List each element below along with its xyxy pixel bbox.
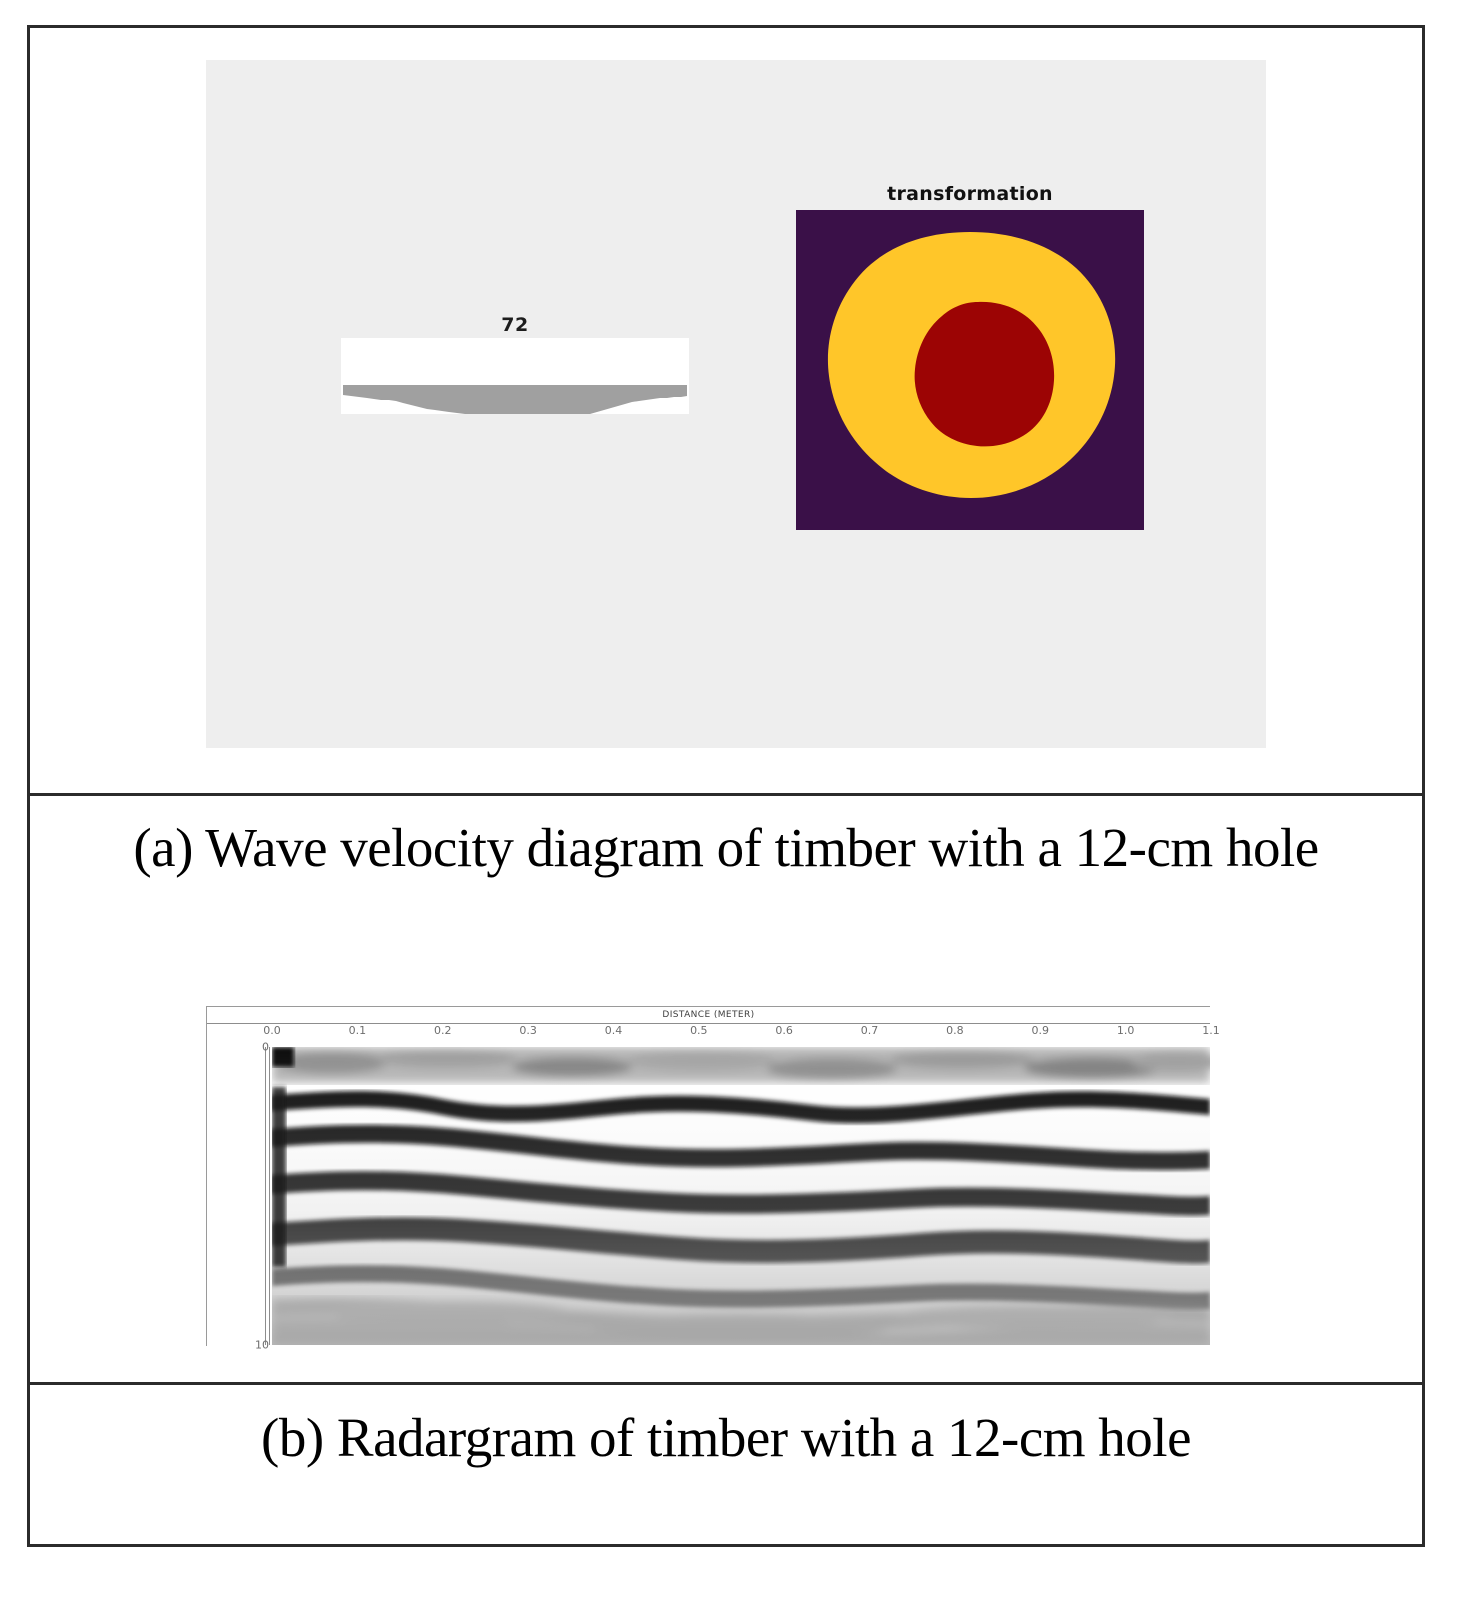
radargram-x-tick-labels: 0.00.10.20.30.40.50.60.70.80.91.01.1 <box>272 1024 1211 1040</box>
radargram-x-tick: 0.4 <box>605 1024 623 1037</box>
tomogram-title: transformation <box>796 183 1144 205</box>
velocity-value-label: 72 <box>341 314 689 336</box>
figure-frame: 72 transformation (a) Wave velocity diag… <box>27 25 1425 1547</box>
radargram-y-tick: 0 <box>262 1041 269 1054</box>
radargram-y-tick: 10 <box>255 1339 269 1352</box>
radargram-axis-rule-left <box>269 1047 270 1345</box>
radargram-x-tick: 0.7 <box>861 1024 879 1037</box>
radargram-frame: DISTANCE (METER) 0.00.10.20.30.40.50.60.… <box>206 1006 1210 1346</box>
radargram-x-tick: 0.2 <box>434 1024 452 1037</box>
radargram-x-tick: 0.3 <box>519 1024 537 1037</box>
tomogram-image <box>796 210 1144 530</box>
radargram-y-tick-labels: 010 <box>243 1047 269 1345</box>
radargram-x-tick: 0.6 <box>775 1024 793 1037</box>
radargram-x-tick: 1.1 <box>1202 1024 1220 1037</box>
radargram-x-tick: 0.5 <box>690 1024 708 1037</box>
panel-divider-b <box>30 1382 1422 1385</box>
panel-wave-velocity: 72 transformation <box>30 28 1422 793</box>
caption-b: (b) Radargram of timber with a 12-cm hol… <box>30 1403 1422 1473</box>
panel-radargram: DISTANCE (METER) 0.00.10.20.30.40.50.60.… <box>30 796 1422 1382</box>
radargram-data-image <box>272 1047 1210 1345</box>
radargram-x-tick: 0.1 <box>349 1024 367 1037</box>
velocity-profile-strip <box>341 338 689 414</box>
radargram-x-tick: 1.0 <box>1117 1024 1135 1037</box>
radargram-x-tick: 0.0 <box>263 1024 281 1037</box>
radargram-x-axis-title: DISTANCE (METER) <box>207 1010 1210 1020</box>
radargram-x-tick: 0.8 <box>946 1024 964 1037</box>
radargram-x-tick: 0.9 <box>1032 1024 1050 1037</box>
